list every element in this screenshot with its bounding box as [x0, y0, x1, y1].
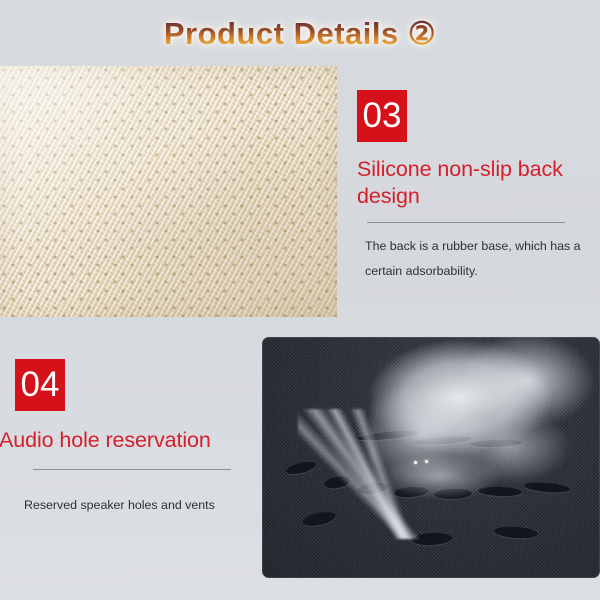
- speaker-hole: [394, 486, 429, 498]
- speaker-hole: [414, 435, 472, 446]
- speaker-hole: [478, 486, 522, 497]
- speaker-hole: [434, 488, 472, 499]
- mesh-photo-sheen: [0, 66, 337, 317]
- speaker-hole: [358, 429, 420, 442]
- audio-hole-smoke-photo: [262, 337, 600, 578]
- speaker-hole: [524, 481, 571, 494]
- speaker-hole: [357, 481, 388, 496]
- section-03-heading: Silicone non-slip back design: [357, 156, 600, 210]
- section-04: 04 Audio hole reservation Reserved speak…: [15, 359, 265, 518]
- silicone-mesh-photo: [0, 66, 337, 317]
- section-03-divider: [367, 222, 565, 223]
- speaker-hole: [323, 475, 351, 490]
- section-04-divider: [33, 469, 231, 470]
- section-03: 03 Silicone non-slip back design The bac…: [357, 90, 600, 284]
- section-04-number-badge: 04: [15, 359, 65, 411]
- section-03-body: The back is a rubber base, which has a c…: [365, 234, 600, 284]
- speaker-hole: [285, 460, 317, 477]
- smoke-cloud: [370, 337, 595, 496]
- speaker-hole: [494, 525, 539, 539]
- speaker-hole: [470, 439, 522, 448]
- smoke-spark: [425, 460, 428, 463]
- smoke-spark: [414, 461, 417, 464]
- speaker-hole: [301, 510, 337, 529]
- section-04-heading: Audio hole reservation: [0, 427, 265, 454]
- section-04-body: Reserved speaker holes and vents: [24, 493, 264, 518]
- product-details-page: Product Details ② 03 Silicone non-slip b…: [0, 0, 600, 600]
- page-title: Product Details ②: [0, 14, 600, 54]
- speaker-hole: [412, 532, 453, 546]
- section-03-number-badge: 03: [357, 90, 407, 142]
